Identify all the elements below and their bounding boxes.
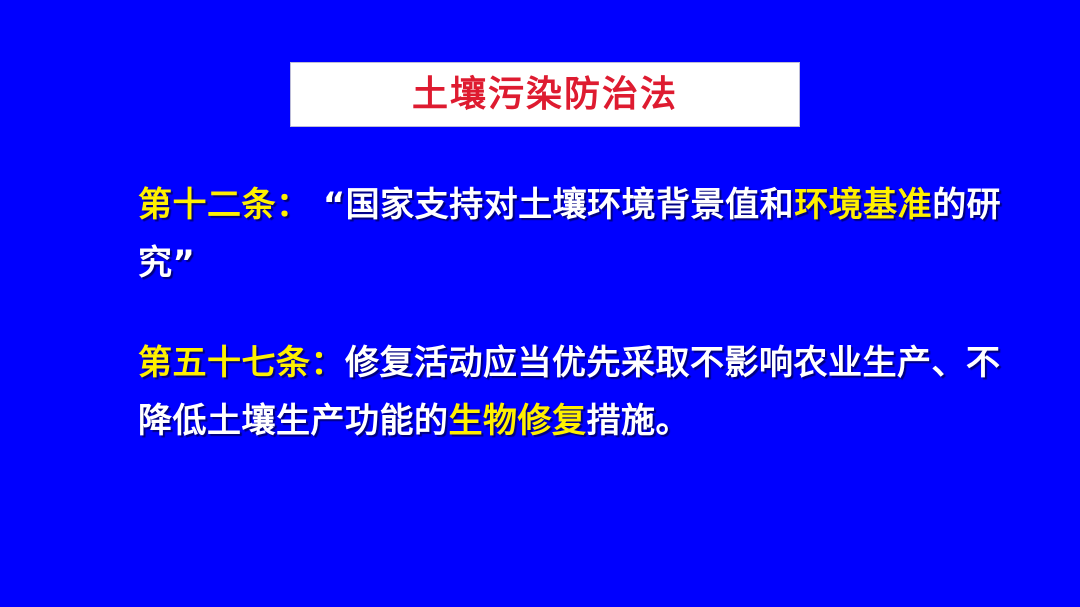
paragraph-article-12: 第十二条： “国家支持对土壤环境背景值和环境基准的研究” [138,176,1028,292]
slide-body: 第十二条： “国家支持对土壤环境背景值和环境基准的研究” 第五十七条：修复活动应… [138,176,1028,450]
text-run-highlight-0: 第五十七条： [138,343,345,383]
text-run-plain-1: “国家支持对土壤环境背景值和 [311,185,795,225]
text-run-highlight-2: 环境基准 [794,185,932,225]
text-run-plain-3: 措施。 [587,401,691,441]
paragraph-article-57: 第五十七条：修复活动应当优先采取不影响农业生产、不降低土壤生产功能的生物修复措施… [138,334,1028,450]
page-title: 土壤污染防治法 [412,77,678,113]
text-run-highlight-2: 生物修复 [449,401,587,441]
text-run-highlight-0: 第十二条： [138,185,311,225]
title-plate: 土壤污染防治法 [290,62,800,127]
presentation-slide: 土壤污染防治法 第十二条： “国家支持对土壤环境背景值和环境基准的研究” 第五十… [0,0,1080,607]
